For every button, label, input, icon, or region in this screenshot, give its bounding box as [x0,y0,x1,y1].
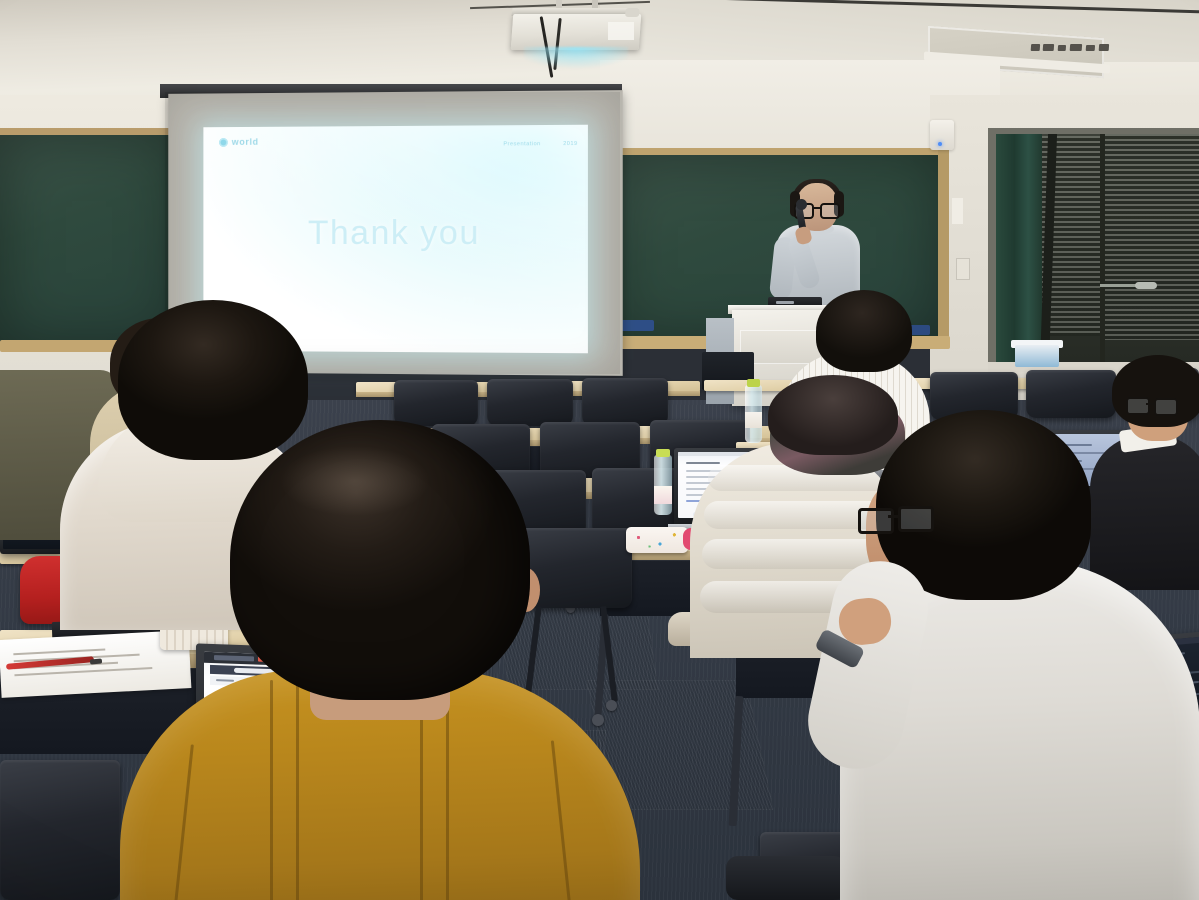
window-handle[interactable] [1135,282,1157,289]
classroom-photo: world Presentation 2019 Thank you [0,0,1199,900]
slide-title: Thank you [203,214,588,253]
water-bottle[interactable] [654,455,672,515]
chair[interactable] [0,760,120,900]
globe-icon [219,137,228,146]
hair-highlight [280,446,430,516]
supply-box [1015,345,1059,367]
pen-tip [90,658,102,664]
slide-logo-text: world [232,137,259,147]
projector-light-beam [524,47,628,69]
window-mullion [1100,134,1105,364]
audience-hair [816,290,912,372]
window-handle-bar [1100,284,1140,287]
status-led [938,142,942,146]
bottle-label [654,486,672,504]
wall-notice [952,198,963,224]
microphone-head [796,199,807,210]
audience-member-grey-sweatshirt [840,410,1199,900]
projector-ports [1030,44,1109,55]
projector-knob [625,8,640,17]
chalkboard-eraser[interactable] [620,320,654,331]
audience-member-foreground-mustard [120,420,640,900]
chalkboard-frame-right [938,148,949,348]
power-outlet-icon[interactable] [956,258,970,280]
slide-logo: world [219,137,259,147]
green-curtain[interactable] [996,134,1042,364]
window-blinds[interactable] [1104,134,1199,340]
slide-meta-right: 2019 [563,141,578,147]
wall-speaker-sensor-icon [930,120,954,150]
projector-label [608,22,634,40]
bottle-cap [656,449,670,457]
chair[interactable] [487,379,573,426]
slide-meta: Presentation 2019 [503,141,577,147]
bag-on-floor [726,856,846,900]
slide-meta-left: Presentation [503,141,540,147]
glasses-icon [858,506,932,532]
chair[interactable] [582,378,668,426]
